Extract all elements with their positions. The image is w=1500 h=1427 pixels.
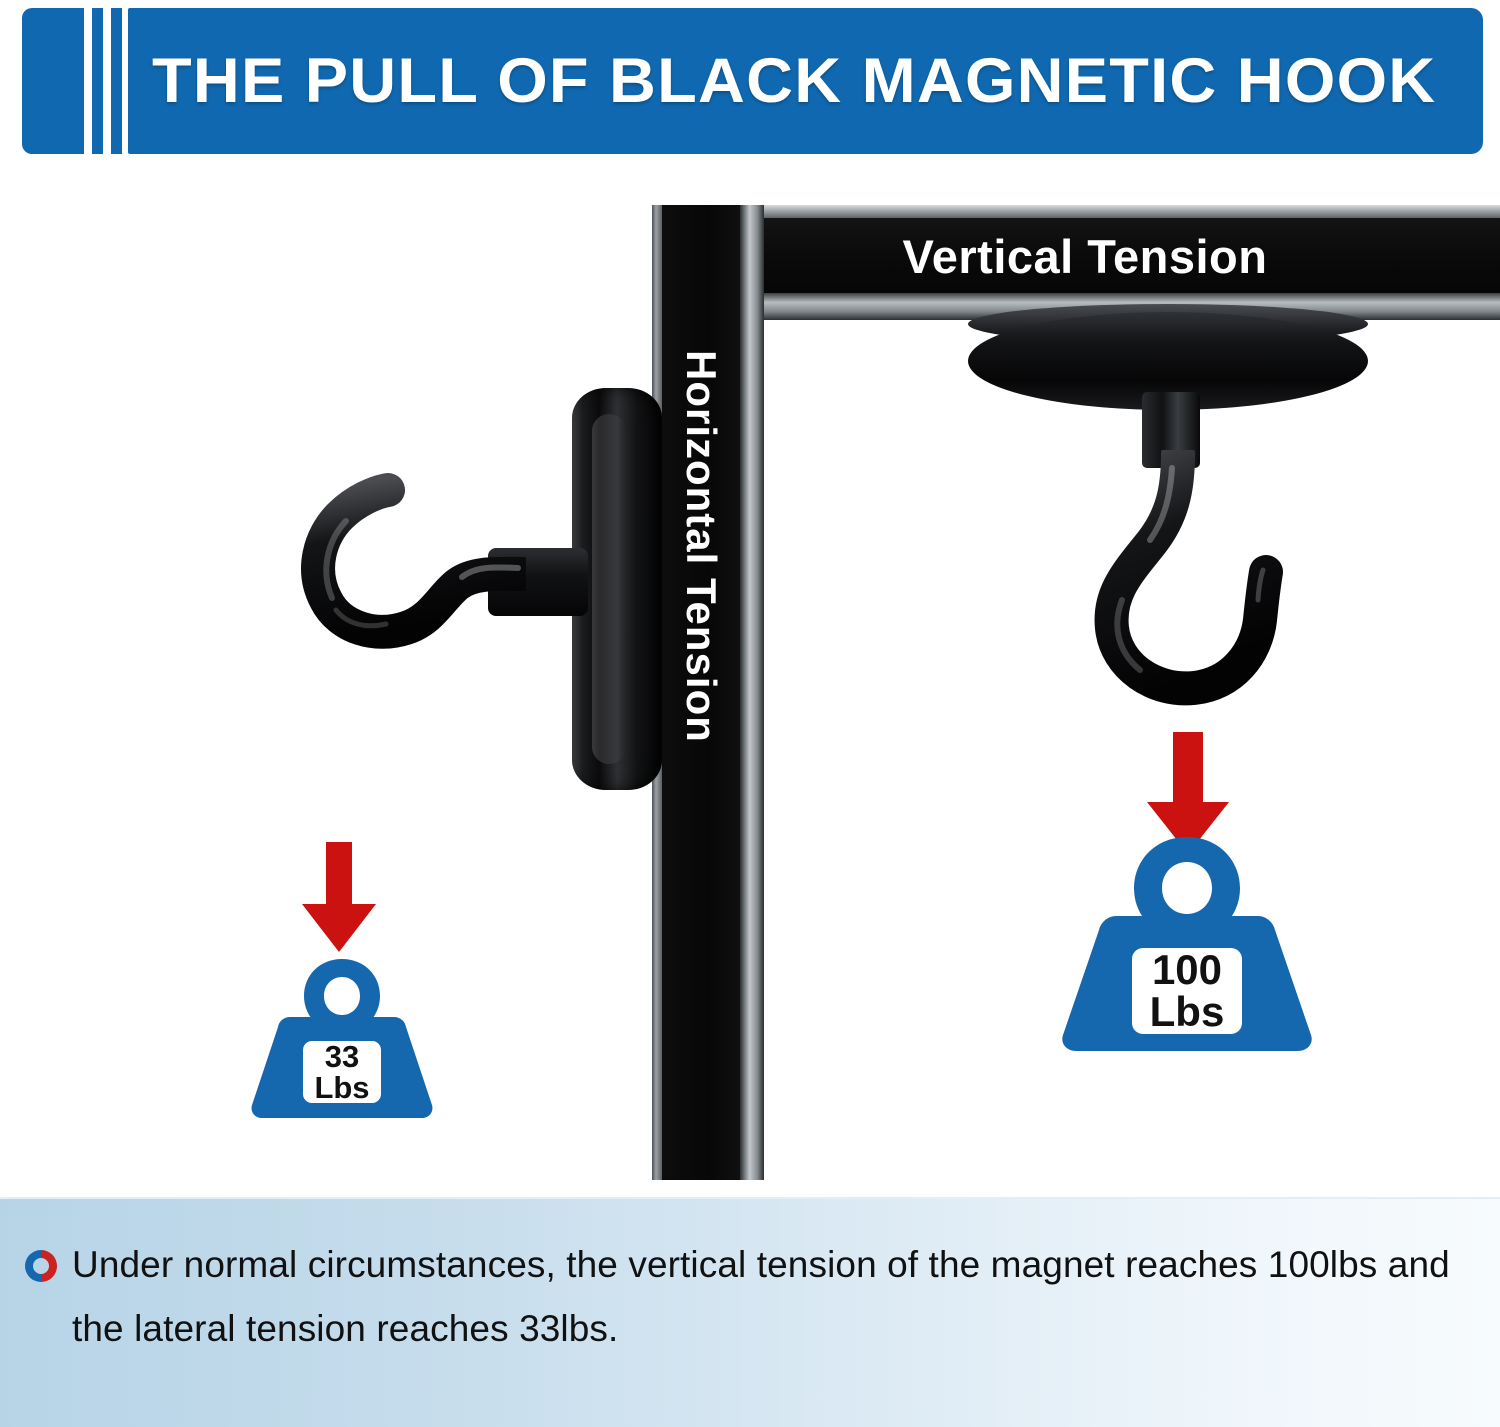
left-magnet-highlight — [592, 414, 626, 764]
footer-note-panel: Under normal circumstances, the vertical… — [0, 1197, 1500, 1427]
weight-100-unit: Lbs — [1150, 991, 1225, 1033]
product-illustration: Vertical Tension Horizontal Tension — [0, 160, 1500, 1197]
horizontal-tension-label: Horizontal Tension — [677, 350, 725, 743]
right-hook-icon — [1060, 450, 1320, 720]
header-banner: THE PULL OF BLACK MAGNETIC HOOK — [0, 0, 1500, 160]
page-title: THE PULL OF BLACK MAGNETIC HOOK — [152, 8, 1500, 154]
wall-beam: Horizontal Tension — [652, 205, 764, 1180]
banner-accent-tab — [22, 8, 84, 154]
banner-stripe-two — [111, 8, 122, 154]
ceiling-beam: Vertical Tension — [700, 205, 1500, 320]
weight-100-value: 100 — [1152, 949, 1222, 991]
ceiling-top-metal-edge — [700, 205, 1500, 218]
magnet-ring-icon — [22, 1247, 60, 1285]
left-down-arrow-icon — [296, 842, 382, 952]
footer-inner: Under normal circumstances, the vertical… — [22, 1233, 1460, 1360]
banner-stripe-one — [92, 8, 103, 154]
weight-100-label-wrap: 100 Lbs — [1052, 832, 1322, 1054]
weight-33-value: 33 — [325, 1041, 359, 1072]
horizontal-tension-label-wrap: Horizontal Tension — [662, 205, 740, 1180]
vertical-tension-label: Vertical Tension — [700, 223, 1470, 289]
weight-33-label-wrap: 33 Lbs — [244, 955, 440, 1120]
wall-right-metal-edge — [740, 205, 764, 1180]
left-hook-icon — [236, 448, 526, 678]
weight-33-unit: Lbs — [314, 1072, 369, 1103]
footer-note-text: Under normal circumstances, the vertical… — [72, 1233, 1460, 1360]
